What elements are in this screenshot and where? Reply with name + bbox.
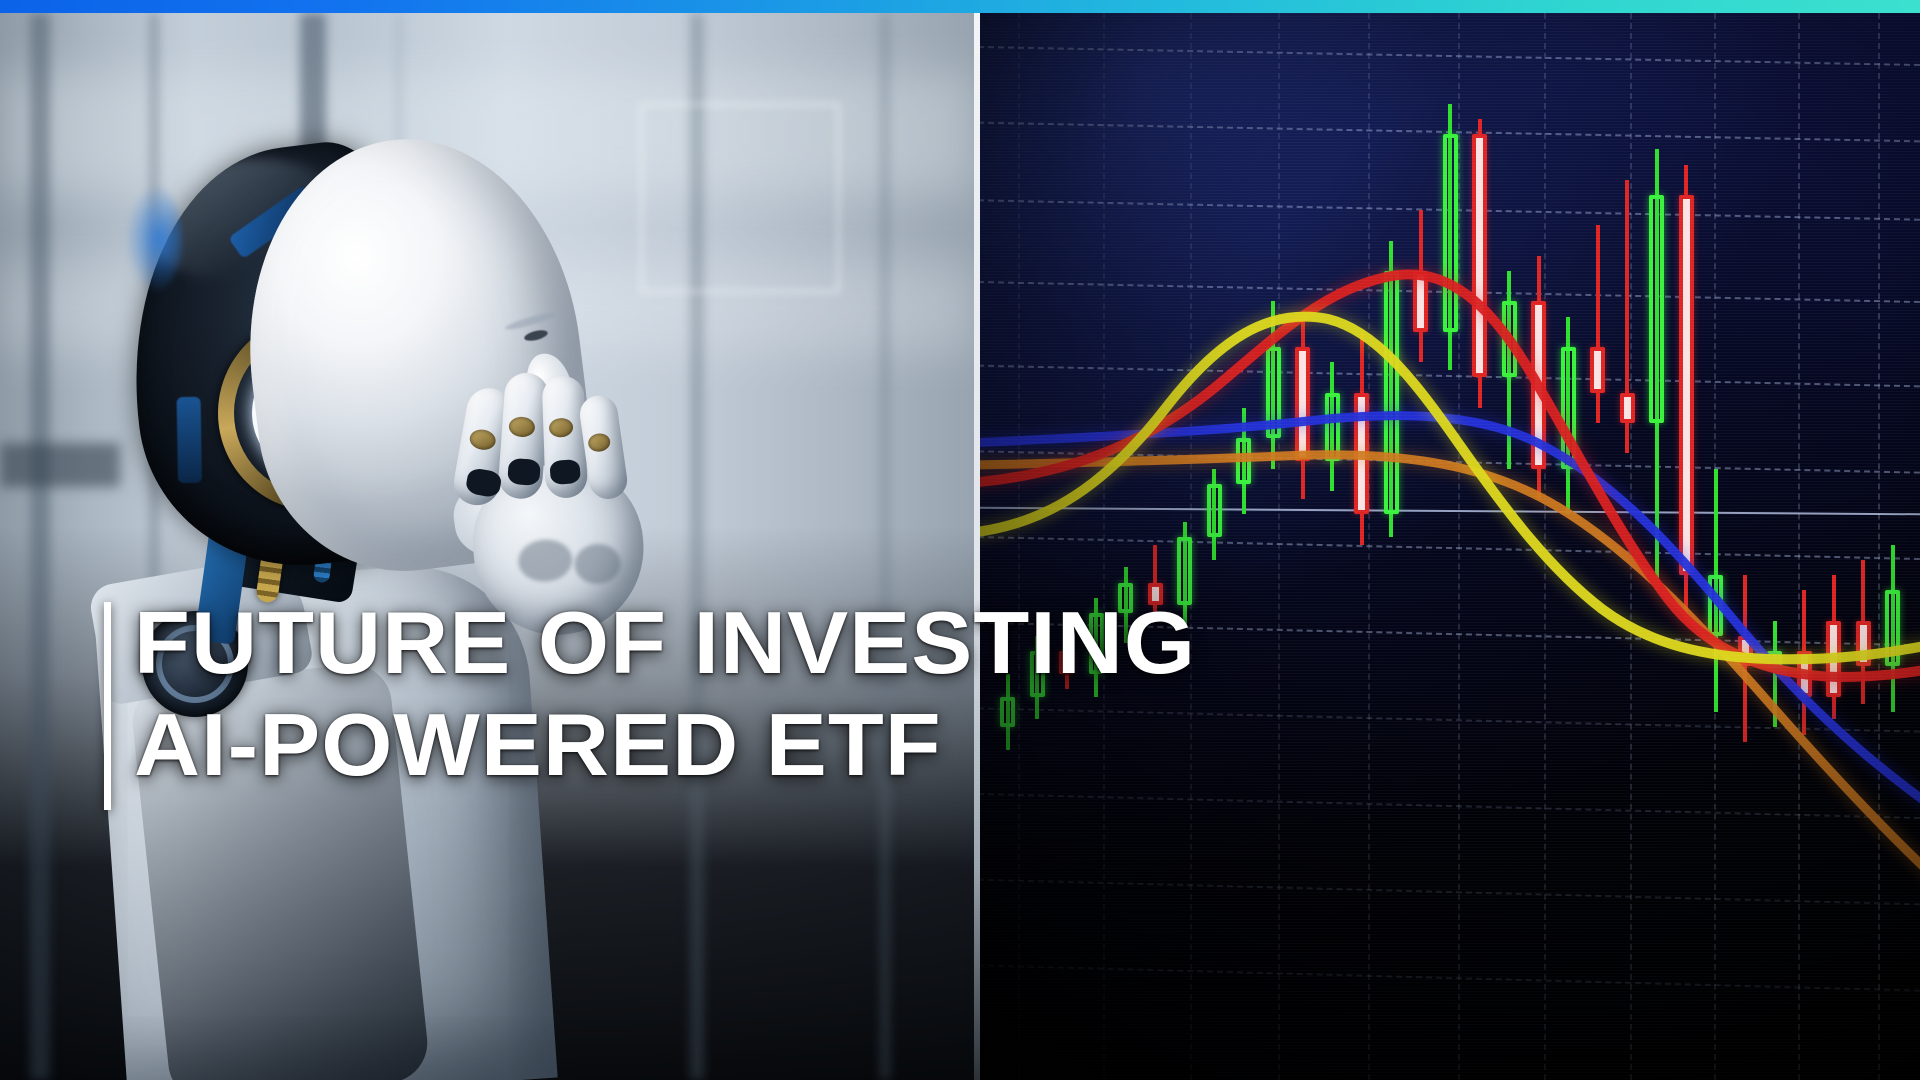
- banner-title-block: FUTURE OF INVESTING AI-POWERED ETF: [104, 592, 1155, 796]
- background-window-frame: [640, 103, 840, 293]
- banner-canvas: FUTURE OF INVESTING AI-POWERED ETF: [0, 0, 1920, 1080]
- right-chart-panel: [978, 13, 1920, 1080]
- title-line-2: AI-POWERED ETF: [134, 694, 1196, 796]
- finger-joint: [507, 458, 541, 486]
- left-image-panel: [0, 13, 978, 1080]
- title-accent-rule: [104, 602, 111, 810]
- trading-chart: [978, 13, 1920, 1080]
- finger-joint: [549, 459, 581, 485]
- title-line-1: FUTURE OF INVESTING: [134, 592, 1196, 694]
- skull-blue-plate: [177, 397, 202, 483]
- moving-average-lines: [978, 13, 1920, 1080]
- background-shelf: [0, 443, 120, 487]
- panel-divider: [974, 13, 980, 1080]
- top-accent-bar: [0, 0, 1920, 13]
- window-mullion: [30, 13, 50, 1080]
- ear-blue-glow: [126, 185, 182, 293]
- robot-photo: [0, 13, 978, 1080]
- window-mullion: [880, 13, 890, 1080]
